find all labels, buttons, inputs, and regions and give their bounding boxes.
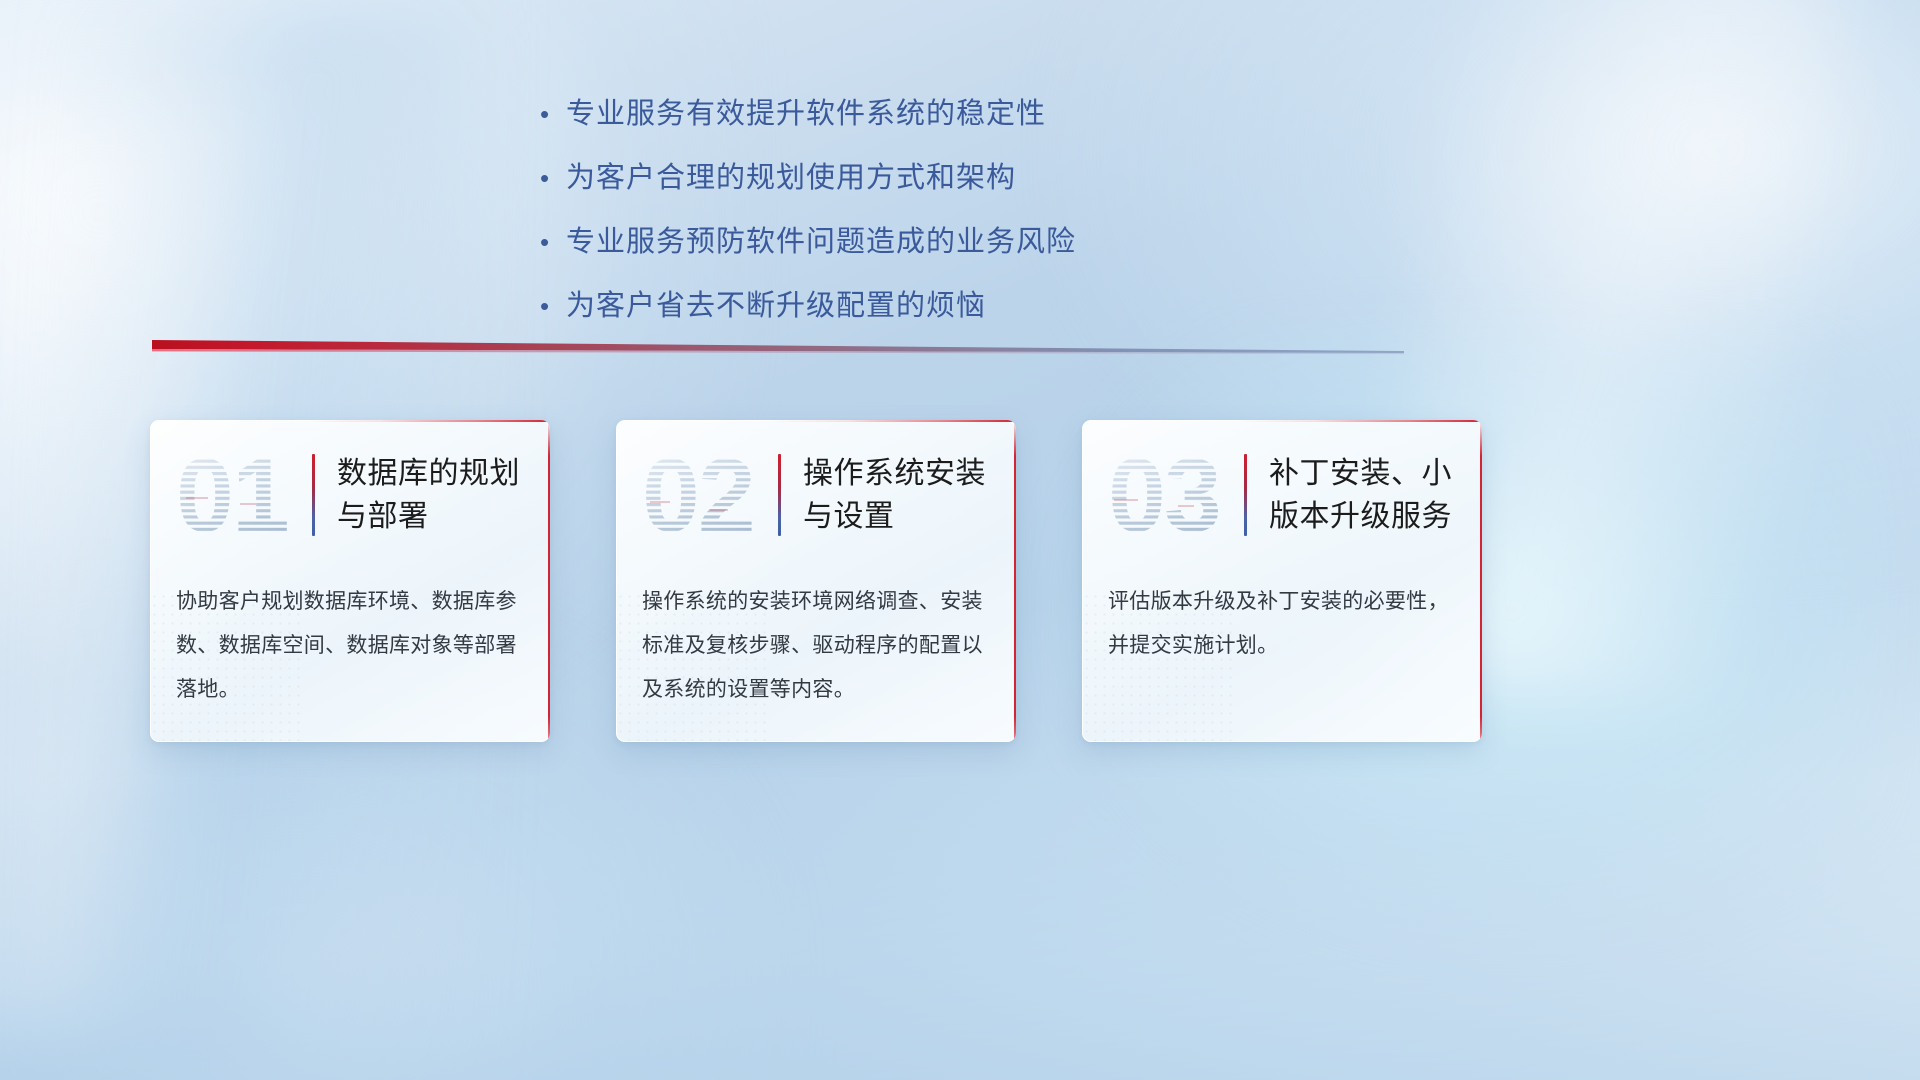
card-title: 数据库的规划与部署 — [337, 452, 532, 538]
bullet-text: 为客户合理的规划使用方式和架构 — [566, 156, 1016, 200]
list-item: • 为客户合理的规划使用方式和架构 — [540, 156, 1360, 220]
card-title-divider — [1244, 454, 1247, 536]
bullet-dot-icon: • — [540, 220, 566, 264]
svg-text:03: 03 — [1108, 441, 1220, 549]
card-title: 补丁安装、小版本升级服务 — [1269, 452, 1464, 538]
card-number-watermark: 03 — [1106, 441, 1238, 549]
bullet-text: 专业服务预防软件问题造成的业务风险 — [566, 220, 1076, 264]
list-item: • 专业服务有效提升软件系统的稳定性 — [540, 92, 1360, 156]
card-body-text: 评估版本升级及补丁安装的必要性，并提交实施计划。 — [1082, 570, 1482, 668]
section-divider — [152, 338, 1404, 364]
striped-number-icon: 01 — [174, 441, 306, 549]
bullet-text: 为客户省去不断升级配置的烦恼 — [566, 284, 986, 328]
svg-text:02: 02 — [642, 441, 754, 549]
card-title: 操作系统安装与设置 — [803, 452, 998, 538]
bullet-dot-icon: • — [540, 284, 566, 328]
striped-number-icon: 02 — [640, 441, 772, 549]
bullet-text: 专业服务有效提升软件系统的稳定性 — [566, 92, 1046, 136]
bullet-dot-icon: • — [540, 92, 566, 136]
striped-number-icon: 03 — [1106, 441, 1238, 549]
service-card-row: 01 数据库的规划与部署 协助客户规划数据库环境、数据库参数、数据库空间、数据库… — [150, 420, 1772, 742]
divider-wedge-icon — [152, 338, 1404, 364]
card-header: 03 补丁安装、小版本升级服务 — [1082, 420, 1482, 570]
service-card[interactable]: 03 补丁安装、小版本升级服务 评估版本升级及补丁安装的必要性，并提交实施计划。 — [1082, 420, 1482, 742]
card-header: 02 操作系统安装与设置 — [616, 420, 1016, 570]
service-card[interactable]: 01 数据库的规划与部署 协助客户规划数据库环境、数据库参数、数据库空间、数据库… — [150, 420, 550, 742]
card-title-divider — [312, 454, 315, 536]
card-number-watermark: 02 — [640, 441, 772, 549]
card-body-text: 操作系统的安装环境网络调查、安装标准及复核步骤、驱动程序的配置以及系统的设置等内… — [616, 570, 1016, 712]
background-bottom-vignette — [0, 780, 1920, 1080]
svg-text:01: 01 — [176, 441, 288, 549]
slide-canvas: • 专业服务有效提升软件系统的稳定性 • 为客户合理的规划使用方式和架构 • 专… — [0, 0, 1920, 1080]
service-card[interactable]: 02 操作系统安装与设置 操作系统的安装环境网络调查、安装标准及复核步骤、驱动程… — [616, 420, 1016, 742]
benefit-bullet-list: • 专业服务有效提升软件系统的稳定性 • 为客户合理的规划使用方式和架构 • 专… — [540, 92, 1360, 348]
card-title-divider — [778, 454, 781, 536]
card-body-text: 协助客户规划数据库环境、数据库参数、数据库空间、数据库对象等部署落地。 — [150, 570, 550, 712]
card-header: 01 数据库的规划与部署 — [150, 420, 550, 570]
card-number-watermark: 01 — [174, 441, 306, 549]
list-item: • 专业服务预防软件问题造成的业务风险 — [540, 220, 1360, 284]
bullet-dot-icon: • — [540, 156, 566, 200]
